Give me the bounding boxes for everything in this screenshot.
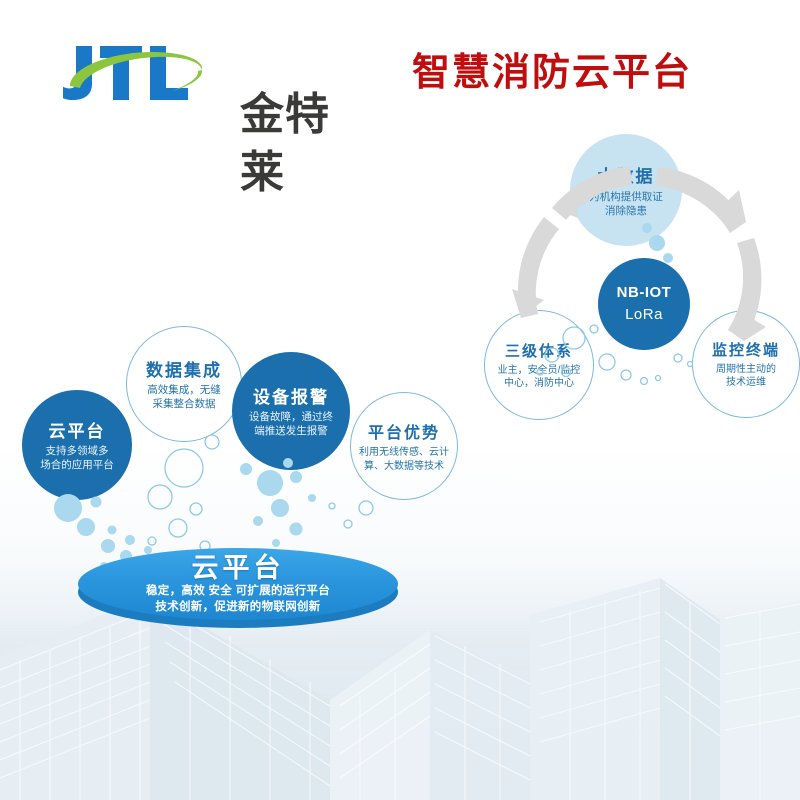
brand-name-cn: 金特莱 bbox=[240, 86, 362, 202]
header: 金特莱 智慧消防云平台 bbox=[0, 0, 800, 128]
node-subtitle-line: 支持多领域多 bbox=[40, 445, 114, 459]
platform-subtitle-line: 稳定，高效 安全 可扩展的运行平台 bbox=[146, 583, 330, 599]
node-subtitle: 利用无线传感、云计 算、大数据等技术 bbox=[359, 446, 449, 472]
node-subtitle-line: 设备故障，通过终 bbox=[249, 411, 333, 425]
platform-text: 云平台 稳定，高效 安全 可扩展的运行平台 技术创新，促进新的物联网创新 bbox=[78, 548, 398, 620]
node-device-alarm[interactable]: 设备报警 设备故障，通过终 端推送发生报警 bbox=[232, 352, 350, 470]
node-subtitle-line: 场合的应用平台 bbox=[40, 459, 114, 473]
node-title: 数据集成 bbox=[146, 356, 222, 381]
node-subtitle-line: 算、大数据等技术 bbox=[359, 460, 449, 473]
node-subtitle-line: 端推送发生报警 bbox=[249, 425, 333, 439]
node-subtitle: 支持多领域多 场合的应用平台 bbox=[40, 445, 114, 473]
node-subtitle: 高效集成，无缝 采集整合数据 bbox=[147, 384, 221, 412]
poster-canvas: 金特莱 智慧消防云平台 bbox=[0, 0, 800, 800]
node-title: 云平台 bbox=[49, 417, 106, 442]
node-title: 设备报警 bbox=[253, 383, 329, 408]
jtl-logo-icon bbox=[62, 42, 232, 104]
node-cloud-platform[interactable]: 云平台 支持多领域多 场合的应用平台 bbox=[22, 390, 132, 500]
platform-title: 云平台 bbox=[192, 553, 285, 583]
node-subtitle-line: 高效集成，无缝 bbox=[147, 384, 221, 398]
cloud-platform-base[interactable]: 云平台 稳定，高效 安全 可扩展的运行平台 技术创新，促进新的物联网创新 bbox=[78, 548, 398, 622]
node-data-integration[interactable]: 数据集成 高效集成，无缝 采集整合数据 bbox=[126, 326, 242, 442]
node-title: NB-IOT bbox=[617, 282, 672, 304]
page-title: 智慧消防云平台 bbox=[412, 46, 692, 98]
node-subtitle-line: 利用无线传感、云计 bbox=[359, 446, 449, 459]
node-subtitle-line: 采集整合数据 bbox=[147, 398, 221, 412]
node-platform-advantage[interactable]: 平台优势 利用无线传感、云计 算、大数据等技术 bbox=[350, 392, 458, 500]
node-nbiot-lora[interactable]: NB-IOT LoRa bbox=[598, 258, 690, 350]
node-title: 平台优势 bbox=[368, 419, 440, 443]
platform-subtitle-line: 技术创新，促进新的物联网创新 bbox=[155, 599, 320, 615]
node-subtitle: 设备故障，通过终 端推送发生报警 bbox=[249, 411, 333, 439]
company-logo[interactable]: 金特莱 bbox=[62, 42, 362, 104]
node-subtitle: LoRa bbox=[625, 304, 663, 326]
